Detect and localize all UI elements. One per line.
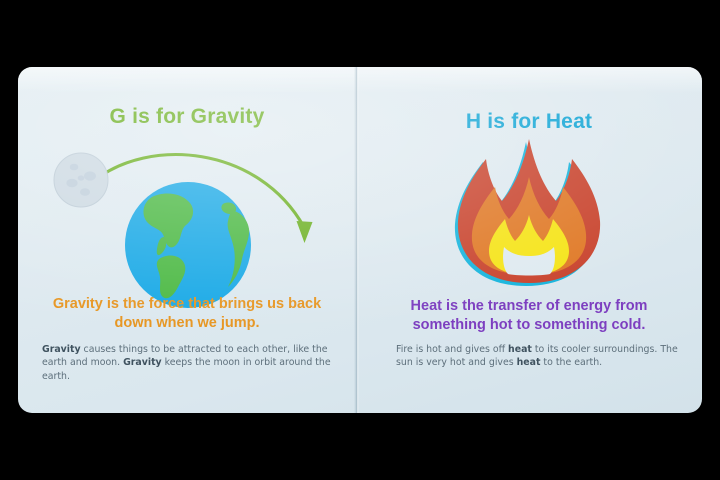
- body-text-gravity: Gravity causes things to be attracted to…: [42, 343, 338, 383]
- caption-gravity: Gravity is the force that brings us back…: [18, 295, 356, 332]
- book-page-left: G is for Gravity: [18, 67, 356, 413]
- illustration-earth-and-moon: [28, 129, 346, 307]
- moon-icon: [54, 153, 108, 207]
- screenshot-stage: G is for Gravity: [0, 0, 720, 480]
- illustration-flame: [404, 129, 654, 309]
- board-book: G is for Gravity: [18, 67, 702, 413]
- page-title-gravity: G is for Gravity: [18, 105, 356, 129]
- earth-globe-icon: [125, 182, 251, 308]
- body-text-heat: Fire is hot and gives off heat to its co…: [396, 343, 692, 370]
- book-page-right: H is for Heat: [356, 67, 702, 413]
- caption-heat: Heat is the transfer of energy from some…: [356, 297, 702, 334]
